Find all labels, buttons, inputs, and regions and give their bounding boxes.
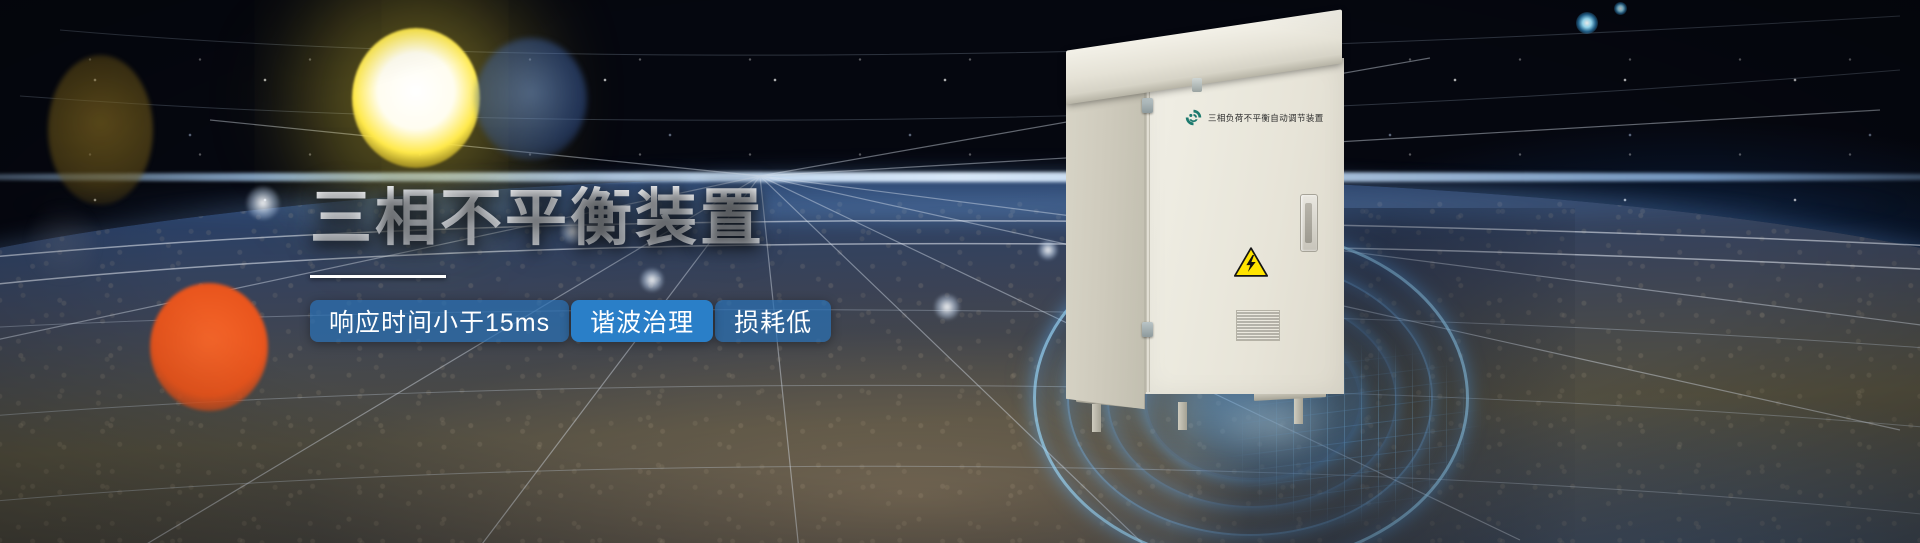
feature-pill-harmonic[interactable]: 谐波治理 [571,300,713,342]
feature-pill-list: 响应时间小于15ms 谐波治理 损耗低 [310,300,930,342]
grid-node-glow [246,186,280,220]
star-glint [1614,2,1627,15]
banner-copy: 三相不平衡装置 响应时间小于15ms 谐波治理 损耗低 [310,186,930,342]
cabinet-leg [1092,404,1101,432]
cabinet-leg [1178,402,1187,430]
network-grid-lines [0,0,1920,543]
grid-node-glow [934,294,960,320]
product-cabinet: 三相负荷不平衡自动调节装置 [1058,22,1358,442]
cabinet-hinge [1142,322,1153,337]
banner-headline: 三相不平衡装置 [310,186,930,253]
star-glint [1576,12,1598,34]
feature-pill-low-loss[interactable]: 损耗低 [715,300,831,342]
cabinet-side-panel [1066,69,1145,409]
cabinet-vent-grille [1236,310,1280,341]
cabinet-handle[interactable] [1300,194,1318,252]
cabinet-product-name: 三相负荷不平衡自动调节装置 [1208,112,1324,124]
promo-banner: 三相不平衡装置 响应时间小于15ms 谐波治理 损耗低 [0,0,1920,543]
cabinet-latch [1192,78,1202,92]
cabinet-brand-label: 三相负荷不平衡自动调节装置 [1184,108,1324,127]
feature-pill-response-time[interactable]: 响应时间小于15ms [310,300,569,342]
grid-node-glow [1038,240,1058,260]
electrical-hazard-icon [1234,246,1268,278]
headline-divider [310,275,446,278]
cabinet-leg [1294,396,1303,424]
cabinet-hinge [1142,98,1153,113]
company-logo-icon [1184,108,1203,127]
